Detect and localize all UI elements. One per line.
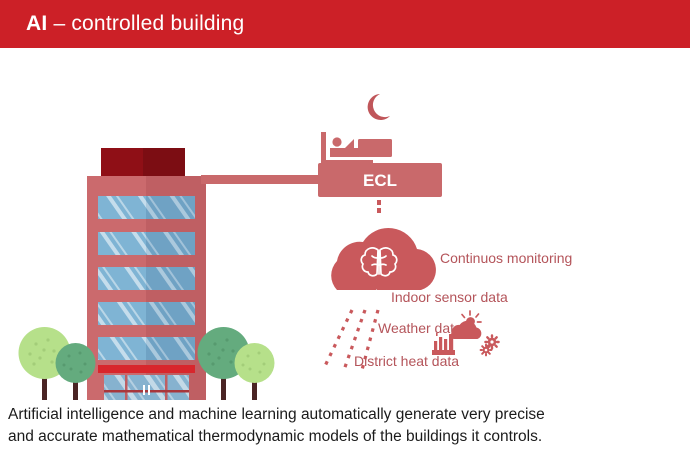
data-stream-label: Continuos monitoring xyxy=(440,250,572,266)
crescent-moon-icon xyxy=(368,94,390,120)
factory-icon xyxy=(432,333,455,355)
illustration-canvas: ECL Leanheat AI Continuos monitoring Ind… xyxy=(0,48,690,400)
caption-block: Artificial intelligence and machine lear… xyxy=(0,404,690,449)
caption-line-1: Artificial intelligence and machine lear… xyxy=(8,404,682,426)
building-roof-box-shade xyxy=(143,148,185,179)
page-title: AI – controlled building xyxy=(26,12,244,36)
ecl-label: ECL xyxy=(363,171,397,190)
page-title-rest: – controlled building xyxy=(47,12,244,35)
gears-icon xyxy=(481,335,499,355)
ecl-connection-pipe xyxy=(201,175,323,184)
data-stream-label: District heat data xyxy=(354,353,459,369)
data-stream-label: Indoor sensor data xyxy=(391,289,508,305)
entrance-glass xyxy=(104,375,189,400)
cloud-shape xyxy=(331,228,436,290)
data-stream-label: Weather data xyxy=(378,320,462,336)
entrance-canopy xyxy=(98,365,195,373)
header-banner: AI – controlled building xyxy=(0,0,690,48)
ecl-controller[interactable]: ECL xyxy=(318,163,442,197)
data-stream-weather: Weather data xyxy=(378,311,481,339)
caption-line-2: and accurate mathematical thermodynamic … xyxy=(8,426,682,448)
bed-icon xyxy=(321,132,392,165)
page-title-keyword: AI xyxy=(26,12,47,35)
ecl-cloud-connector xyxy=(377,200,381,213)
data-stream-continuous-monitoring: Continuos monitoring xyxy=(440,250,572,266)
tree-right-small xyxy=(235,343,275,400)
apartment-building xyxy=(87,148,206,400)
